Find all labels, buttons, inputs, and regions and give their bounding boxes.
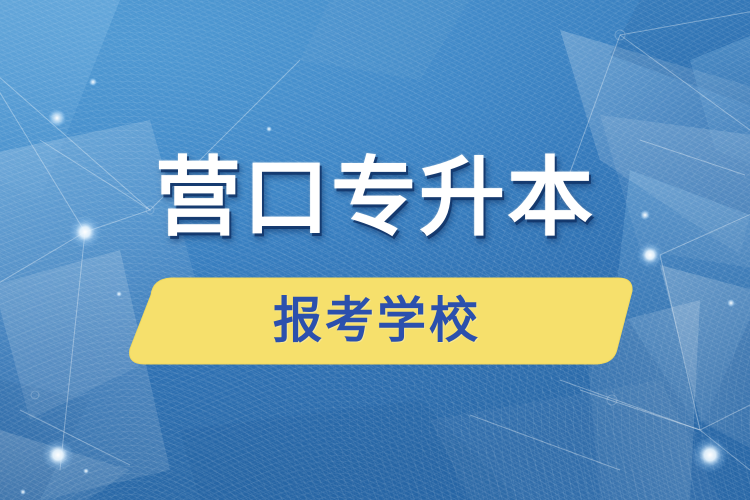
ribbon-shape: 报考学校: [105, 277, 645, 365]
headline-title: 营口专升本: [155, 150, 595, 246]
ribbon-label: 报考学校: [105, 277, 645, 365]
promo-banner: 营口专升本 报考学校: [0, 0, 750, 500]
background-gradient-overlay: [0, 0, 750, 500]
headline-block: 营口专升本: [0, 150, 750, 246]
ribbon-block: 报考学校: [0, 277, 750, 367]
